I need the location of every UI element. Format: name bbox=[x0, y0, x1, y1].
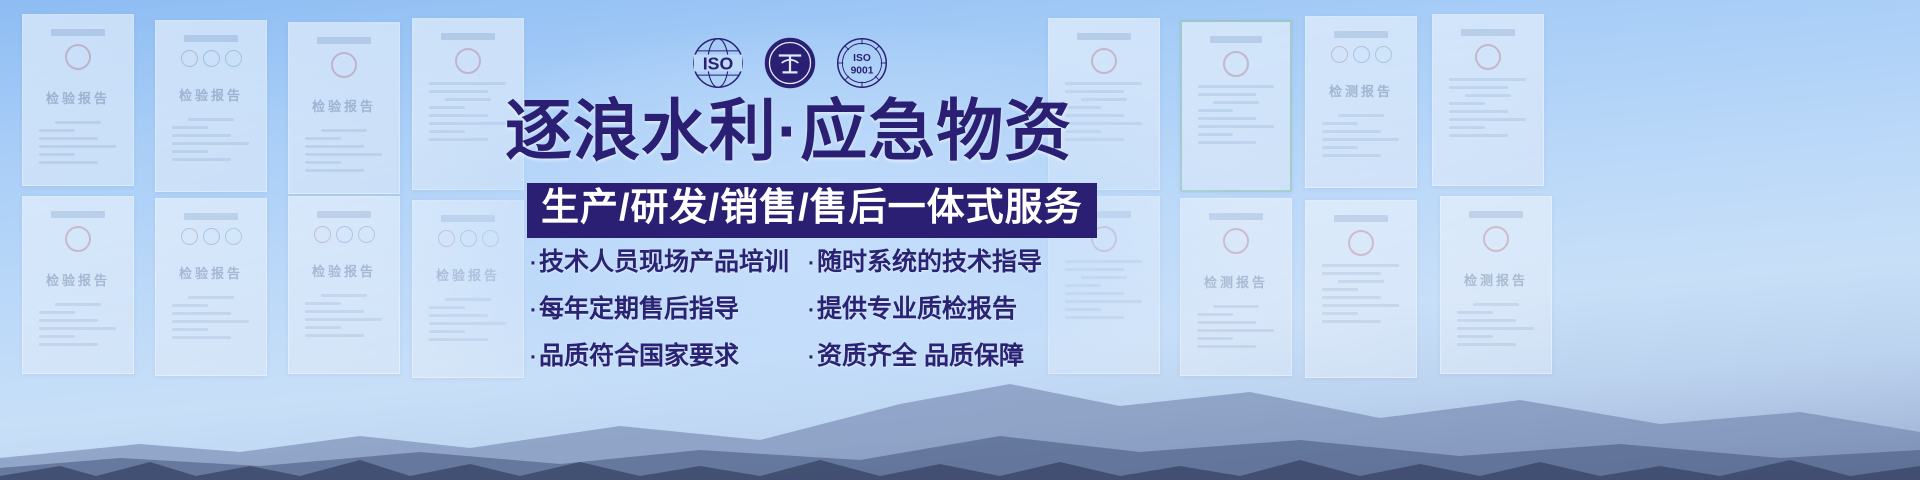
feature-item: ·提供专业质检报告 bbox=[808, 295, 1060, 324]
cert-seal-icon bbox=[482, 230, 499, 247]
cert-text-line bbox=[429, 90, 488, 93]
cert-text-line bbox=[1198, 109, 1233, 112]
cert-heading: 检验报告 bbox=[166, 85, 256, 104]
cert-text-line bbox=[188, 118, 235, 121]
cert-seal-icon bbox=[460, 230, 477, 247]
cert-seal-icon bbox=[314, 226, 331, 243]
cert-seal-icon bbox=[1475, 44, 1501, 70]
cert-header-bar bbox=[441, 215, 495, 222]
cert-quality-report bbox=[1305, 200, 1417, 378]
cert-text-line bbox=[172, 328, 208, 331]
cert-seal-icon bbox=[1353, 46, 1370, 63]
cert-text-line bbox=[1197, 345, 1256, 348]
cert-text-line bbox=[172, 134, 231, 137]
cert-logo-row bbox=[166, 228, 256, 245]
feature-list: ·技术人员现场产品培训·随时系统的技术指导·每年定期售后指导·提供专业质检报告·… bbox=[530, 248, 1060, 370]
cert-header-bar bbox=[317, 211, 371, 218]
banner-subtitle: 生产/研发/销售/售后一体式服务 bbox=[541, 187, 1083, 229]
cert-text-line bbox=[1065, 268, 1124, 271]
bullet-dot-icon: · bbox=[530, 252, 537, 275]
cert-text-line bbox=[1457, 343, 1516, 346]
certification-badges: ISO ISO 9001 bbox=[690, 32, 890, 94]
cert-seal-icon bbox=[358, 226, 375, 243]
cert-text-line bbox=[429, 138, 488, 141]
cert-inspection-report: 检验报告 bbox=[22, 14, 134, 186]
cert-seal-icon bbox=[1091, 48, 1117, 74]
cert-text-line bbox=[1322, 272, 1381, 275]
cert-text-line bbox=[321, 129, 368, 132]
cert-text-line bbox=[1449, 86, 1508, 89]
cert-text-line bbox=[429, 330, 465, 333]
cert-text-line bbox=[1065, 284, 1101, 287]
cert-text-line bbox=[172, 304, 208, 307]
cert-header-bar bbox=[1334, 215, 1388, 222]
cert-header-bar bbox=[1210, 36, 1263, 43]
bullet-dot-icon: · bbox=[530, 299, 537, 322]
cert-text-line bbox=[445, 98, 492, 101]
cert-text-line bbox=[1457, 335, 1493, 338]
cert-seal-icon bbox=[225, 228, 242, 245]
cert-header-bar bbox=[441, 33, 495, 40]
cert-quality-report: 检验报告 bbox=[288, 22, 400, 194]
cert-text-line bbox=[1322, 122, 1358, 125]
cert-text-line bbox=[1065, 300, 1142, 303]
bullet-dot-icon: · bbox=[530, 346, 537, 369]
cert-text-line bbox=[429, 306, 465, 309]
feature-label: 品质符合国家要求 bbox=[539, 342, 739, 370]
cert-text-line bbox=[1198, 133, 1233, 136]
cert-text-line bbox=[429, 82, 506, 85]
cert-text-line bbox=[55, 121, 102, 124]
cert-text-line bbox=[39, 343, 98, 346]
cert-seal-icon bbox=[331, 52, 357, 78]
cert-text-line bbox=[1197, 321, 1256, 324]
feature-item: ·每年定期售后指导 bbox=[530, 295, 808, 324]
cert-inspection-report: 检验报告 bbox=[288, 196, 400, 374]
cert-text-line bbox=[1198, 125, 1274, 128]
cert-text-line bbox=[321, 294, 368, 297]
cert-heading: 检测报告 bbox=[1316, 81, 1406, 100]
cert-text-line bbox=[1322, 304, 1399, 307]
cert-text-line bbox=[1322, 312, 1358, 315]
cert-text-line bbox=[429, 338, 488, 341]
cert-text-line bbox=[1322, 264, 1399, 267]
cert-text-line bbox=[172, 142, 249, 145]
cert-header-bar bbox=[51, 211, 105, 218]
cert-header-bar bbox=[184, 213, 238, 220]
cert-heading: 检验报告 bbox=[299, 261, 389, 280]
cert-text-line bbox=[1065, 316, 1124, 319]
cert-text-line bbox=[1065, 292, 1124, 295]
cert-text-line bbox=[1322, 130, 1381, 133]
cert-text-line bbox=[1449, 102, 1485, 105]
cert-text-line bbox=[429, 106, 465, 109]
cert-text-line bbox=[1322, 288, 1358, 291]
cert-text-line bbox=[1065, 308, 1101, 311]
cert-text-line bbox=[188, 296, 235, 299]
cert-text-line bbox=[1322, 320, 1381, 323]
cert-text-line bbox=[1065, 122, 1142, 125]
cert-test-report: 检测报告 bbox=[1180, 198, 1292, 376]
cert-text-line bbox=[1213, 305, 1260, 308]
cert-text-line bbox=[39, 129, 75, 132]
cert-header-bar bbox=[1334, 31, 1388, 38]
promo-banner: 检验报告检验报告检验报告检测报告检验报告检验报告检验报告检验报告检测报告检测报告… bbox=[0, 0, 1920, 480]
cert-text-line bbox=[305, 334, 364, 337]
cert-inspection-report: 检验报告 bbox=[412, 200, 524, 378]
cert-text-line bbox=[305, 310, 364, 313]
cert-text-line bbox=[1473, 303, 1520, 306]
cert-text-line bbox=[1198, 93, 1256, 96]
cert-text-line bbox=[39, 311, 75, 314]
cert-seal-icon bbox=[65, 44, 91, 70]
feature-item: ·随时系统的技术指导 bbox=[808, 248, 1060, 277]
cert-text-line bbox=[1449, 134, 1508, 137]
cert-text-line bbox=[1198, 141, 1256, 144]
cert-text-line bbox=[305, 169, 364, 172]
cert-header-bar bbox=[51, 29, 105, 36]
cert-heading: 检测报告 bbox=[1191, 272, 1281, 291]
cert-heading: 检验报告 bbox=[299, 96, 389, 115]
cert-seal-icon bbox=[65, 226, 91, 252]
cert-test-report: 检测报告 bbox=[1440, 196, 1552, 374]
cert-text-line bbox=[1065, 82, 1142, 85]
cert-text-line bbox=[305, 302, 341, 305]
cert-text-line bbox=[305, 137, 341, 140]
cert-text-line bbox=[1457, 311, 1493, 314]
cert-text-line bbox=[1197, 313, 1233, 316]
cert-seal-icon bbox=[1223, 51, 1249, 77]
cert-heading: 检测报告 bbox=[1451, 270, 1541, 289]
cert-environment-system bbox=[1180, 20, 1292, 192]
cert-text-line bbox=[172, 336, 231, 339]
cert-heading: 检验报告 bbox=[33, 270, 123, 289]
svg-text:9001: 9001 bbox=[851, 65, 874, 76]
feature-label: 每年定期售后指导 bbox=[539, 295, 739, 323]
ccc-quality-badge bbox=[762, 35, 818, 91]
svg-text:ISO: ISO bbox=[853, 53, 871, 64]
cert-seal-icon bbox=[1375, 46, 1392, 63]
cert-text-line bbox=[39, 319, 98, 322]
cert-header-bar bbox=[1077, 33, 1131, 40]
cert-inspection-report: 检验报告 bbox=[22, 196, 134, 374]
cert-inspection-report: 检验报告 bbox=[155, 20, 267, 192]
cert-text-line bbox=[1081, 98, 1128, 101]
cert-inspection-report: 检验报告 bbox=[155, 198, 267, 376]
cert-seal-icon bbox=[1331, 46, 1348, 63]
feature-item: ·资质齐全 品质保障 bbox=[808, 342, 1060, 371]
cert-text-line bbox=[172, 126, 208, 129]
cert-seal-icon bbox=[1348, 230, 1374, 256]
cert-text-line bbox=[39, 335, 75, 338]
banner-title: 逐浪水利·应急物资 bbox=[505, 98, 1075, 165]
cert-text-line bbox=[1065, 260, 1142, 263]
cert-seal-icon bbox=[336, 226, 353, 243]
cert-seal-icon bbox=[181, 228, 198, 245]
cert-seal-icon bbox=[181, 50, 198, 67]
cert-header-bar bbox=[1469, 211, 1523, 218]
svg-text:ISO: ISO bbox=[703, 54, 734, 74]
cert-heading: 检验报告 bbox=[423, 265, 513, 284]
feature-label: 资质齐全 品质保障 bbox=[817, 342, 1024, 370]
cert-logo-row bbox=[1316, 46, 1406, 63]
cert-text-line bbox=[172, 312, 231, 315]
cert-text-line bbox=[1197, 329, 1274, 332]
iso-9001-badge: ISO 9001 bbox=[834, 35, 890, 91]
cert-seal-icon bbox=[1223, 228, 1249, 254]
cert-text-line bbox=[1449, 126, 1485, 129]
feature-label: 技术人员现场产品培训 bbox=[539, 248, 789, 276]
cert-text-line bbox=[445, 298, 492, 301]
cert-text-line bbox=[172, 320, 249, 323]
cert-text-line bbox=[305, 161, 341, 164]
cert-text-line bbox=[1198, 85, 1274, 88]
cert-text-line bbox=[429, 322, 506, 325]
cert-seal-icon bbox=[1483, 226, 1509, 252]
cert-text-line bbox=[1449, 78, 1526, 81]
cert-text-line bbox=[429, 130, 465, 133]
cert-header-bar bbox=[184, 35, 238, 42]
cert-logo-row bbox=[423, 230, 513, 247]
iso-globe-badge: ISO bbox=[690, 35, 746, 91]
cert-text-line bbox=[1322, 296, 1381, 299]
cert-text-line bbox=[39, 327, 116, 330]
cert-text-line bbox=[172, 150, 208, 153]
cert-text-line bbox=[1065, 90, 1124, 93]
cert-text-line bbox=[1338, 114, 1385, 117]
cert-text-line bbox=[1449, 118, 1526, 121]
bullet-dot-icon: · bbox=[808, 299, 815, 322]
cert-logo-row bbox=[299, 226, 389, 243]
cert-header-bar bbox=[317, 37, 371, 44]
cert-text-line bbox=[39, 153, 75, 156]
cert-text-line bbox=[1465, 94, 1512, 97]
cert-text-line bbox=[305, 153, 382, 156]
cert-text-line bbox=[1322, 146, 1358, 149]
feature-label: 随时系统的技术指导 bbox=[817, 248, 1042, 276]
cert-text-line bbox=[305, 145, 364, 148]
cert-text-line bbox=[1081, 276, 1128, 279]
cert-text-line bbox=[1449, 110, 1508, 113]
cert-heading: 检验报告 bbox=[166, 263, 256, 282]
cert-text-line bbox=[55, 303, 102, 306]
bullet-dot-icon: · bbox=[808, 346, 815, 369]
cert-seal-icon bbox=[455, 48, 481, 74]
cert-text-line bbox=[1338, 280, 1385, 283]
cert-text-line bbox=[429, 314, 488, 317]
cert-text-line bbox=[305, 326, 341, 329]
cert-text-line bbox=[1213, 101, 1259, 104]
cert-text-line bbox=[429, 114, 488, 117]
cert-text-line bbox=[1197, 337, 1233, 340]
cert-text-line bbox=[39, 145, 116, 148]
cert-heading: 检验报告 bbox=[33, 88, 123, 107]
bullet-dot-icon: · bbox=[808, 252, 815, 275]
cert-logo-row bbox=[166, 50, 256, 67]
cert-header-bar bbox=[1209, 213, 1263, 220]
cert-text-line bbox=[172, 158, 231, 161]
cert-text-line bbox=[1322, 138, 1399, 141]
cert-seal-icon bbox=[225, 50, 242, 67]
cert-text-line bbox=[39, 161, 98, 164]
cert-text-line bbox=[305, 318, 382, 321]
cert-text-line bbox=[429, 122, 506, 125]
cert-seal-icon bbox=[438, 230, 455, 247]
cert-inspection-report bbox=[1432, 14, 1544, 186]
feature-label: 提供专业质检报告 bbox=[817, 295, 1017, 323]
cert-text-line bbox=[1457, 319, 1516, 322]
cert-text-line bbox=[39, 137, 98, 140]
feature-item: ·技术人员现场产品培训 bbox=[530, 248, 808, 277]
cert-text-line bbox=[1322, 154, 1381, 157]
cert-seal-icon bbox=[203, 228, 220, 245]
cert-header-bar bbox=[1461, 29, 1515, 36]
cert-seal-icon bbox=[203, 50, 220, 67]
cert-text-line bbox=[1457, 327, 1534, 330]
cert-test-report: 检测报告 bbox=[1305, 16, 1417, 188]
banner-subtitle-bar: 生产/研发/销售/售后一体式服务 bbox=[527, 183, 1097, 238]
feature-item: ·品质符合国家要求 bbox=[530, 342, 808, 371]
cert-text-line bbox=[1198, 117, 1256, 120]
